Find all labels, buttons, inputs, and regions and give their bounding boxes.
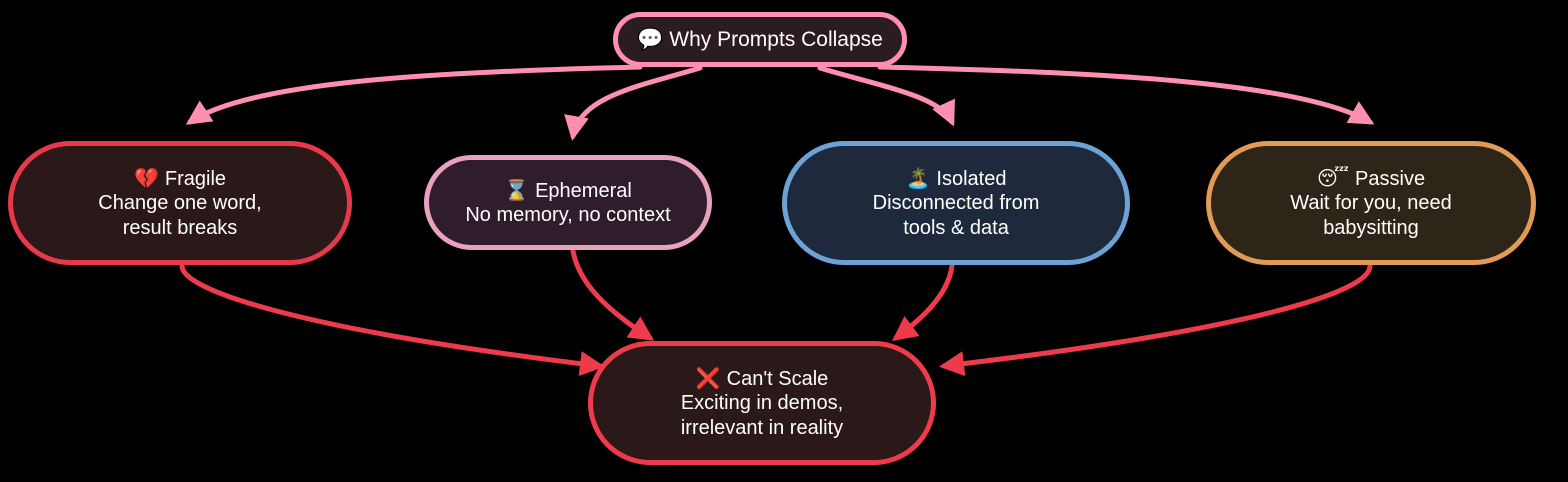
node-fragile-title: Fragile <box>165 168 226 190</box>
cross-mark-icon: ❌ <box>696 366 721 390</box>
node-cant-scale-title: Can't Scale <box>727 368 829 390</box>
node-isolated-title: Isolated <box>936 168 1006 190</box>
node-ephemeral-detail-1: No memory, no context <box>465 203 670 227</box>
node-ephemeral-title: Ephemeral <box>535 180 632 202</box>
node-isolated-detail-2: tools & data <box>903 216 1009 240</box>
node-isolated[interactable]: 🏝️Isolated Disconnected from tools & dat… <box>782 141 1130 265</box>
sleeping-face-icon: 😴 <box>1317 166 1349 190</box>
node-root-title-line: 💬Why Prompts Collapse <box>637 27 883 53</box>
edge-ephemeral-to-cant-scale <box>573 251 650 338</box>
edge-isolated-to-cant-scale <box>896 266 952 338</box>
flowchart-canvas: 💬Why Prompts Collapse 💔Fragile Change on… <box>0 0 1568 482</box>
edge-passive-to-cant-scale <box>944 266 1370 366</box>
node-fragile-detail-2: result breaks <box>123 216 238 240</box>
node-ephemeral[interactable]: ⌛Ephemeral No memory, no context <box>424 155 712 250</box>
node-cant-scale-title-line: ❌Can't Scale <box>696 366 829 391</box>
node-fragile-detail-1: Change one word, <box>98 191 261 215</box>
node-cant-scale[interactable]: ❌Can't Scale Exciting in demos, irreleva… <box>588 341 936 465</box>
edge-fragile-to-cant-scale <box>182 266 600 366</box>
node-ephemeral-title-line: ⌛Ephemeral <box>504 178 632 203</box>
hourglass-icon: ⌛ <box>504 178 529 202</box>
node-root-title: Why Prompts Collapse <box>669 28 883 51</box>
speech-balloon-icon: 💬 <box>637 27 663 51</box>
node-why-prompts-collapse[interactable]: 💬Why Prompts Collapse <box>613 12 907 67</box>
node-passive-detail-2: babysitting <box>1323 216 1419 240</box>
node-passive-title-line: 😴Passive <box>1317 166 1425 191</box>
node-fragile-title-line: 💔Fragile <box>134 166 226 191</box>
edge-root-to-isolated <box>820 68 952 122</box>
desert-island-icon: 🏝️ <box>906 166 931 190</box>
broken-heart-icon: 💔 <box>134 166 159 190</box>
edge-root-to-ephemeral <box>573 68 700 136</box>
edge-root-to-passive <box>880 67 1370 122</box>
node-passive-detail-1: Wait for you, need <box>1290 191 1452 215</box>
node-isolated-title-line: 🏝️Isolated <box>906 166 1007 191</box>
node-passive-title: Passive <box>1355 168 1425 190</box>
node-cant-scale-detail-1: Exciting in demos, <box>681 391 843 415</box>
node-passive[interactable]: 😴Passive Wait for you, need babysitting <box>1206 141 1536 265</box>
node-fragile[interactable]: 💔Fragile Change one word, result breaks <box>8 141 352 265</box>
node-cant-scale-detail-2: irrelevant in reality <box>681 416 843 440</box>
edge-root-to-fragile <box>190 67 640 122</box>
node-isolated-detail-1: Disconnected from <box>873 191 1040 215</box>
